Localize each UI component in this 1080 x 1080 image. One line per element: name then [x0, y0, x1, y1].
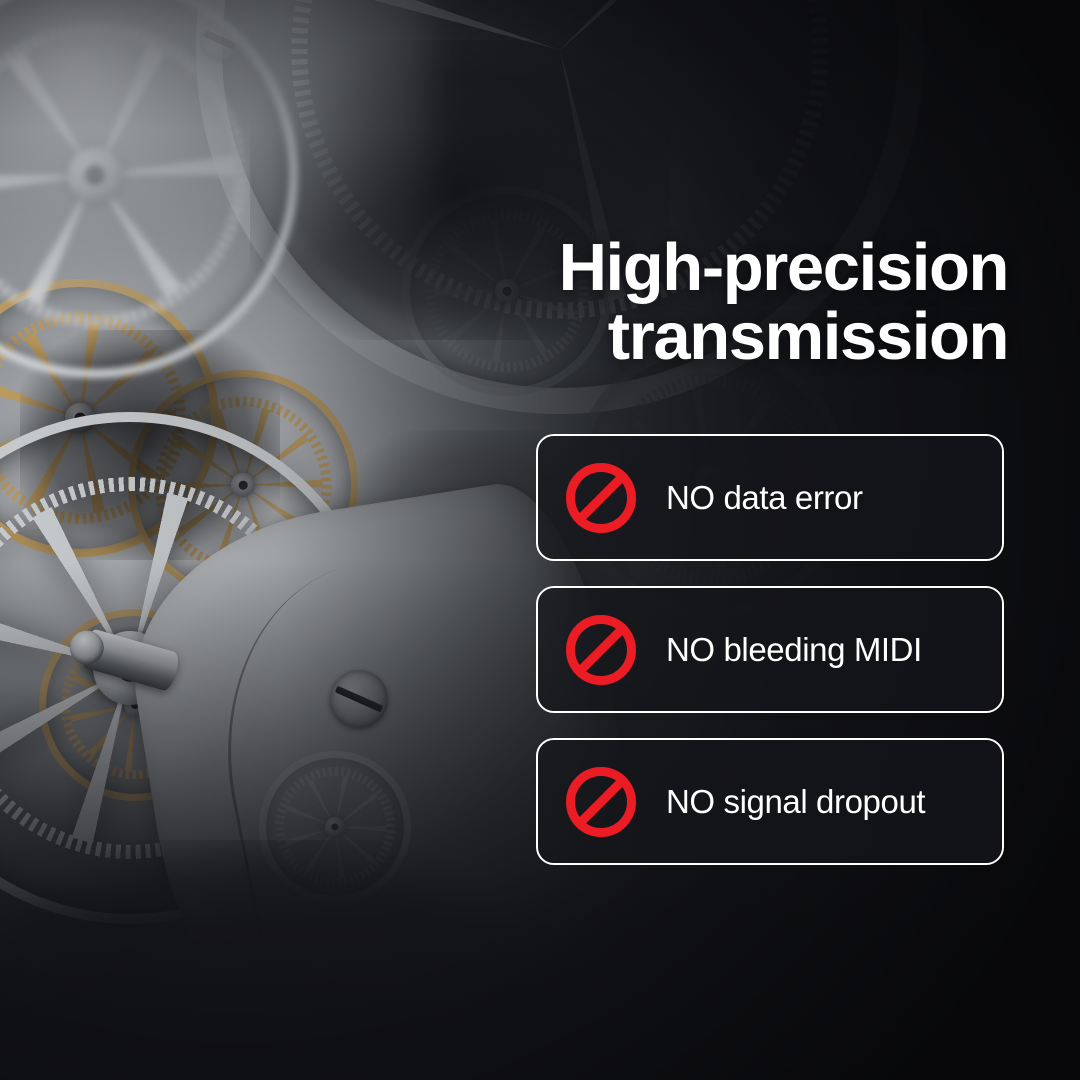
feature-card-no-data-error: NO data error [536, 434, 1004, 561]
headline-line-1: High-precision [388, 233, 1008, 302]
poster-content: High-precision transmission NO data erro… [0, 0, 1080, 1080]
prohibition-icon [566, 463, 636, 533]
prohibition-icon [566, 615, 636, 685]
feature-label: NO signal dropout [666, 783, 925, 821]
feature-label: NO bleeding MIDI [666, 631, 922, 669]
feature-label: NO data error [666, 479, 863, 517]
feature-card-no-signal-dropout: NO signal dropout [536, 738, 1004, 865]
feature-card-no-bleeding-midi: NO bleeding MIDI [536, 586, 1004, 713]
page-title: High-precision transmission [388, 233, 1008, 371]
feature-list: NO data error NO bleeding MIDI NO signal… [536, 434, 1004, 865]
prohibition-icon [566, 767, 636, 837]
headline-line-2: transmission [388, 302, 1008, 371]
product-feature-poster: High-precision transmission NO data erro… [0, 0, 1080, 1080]
